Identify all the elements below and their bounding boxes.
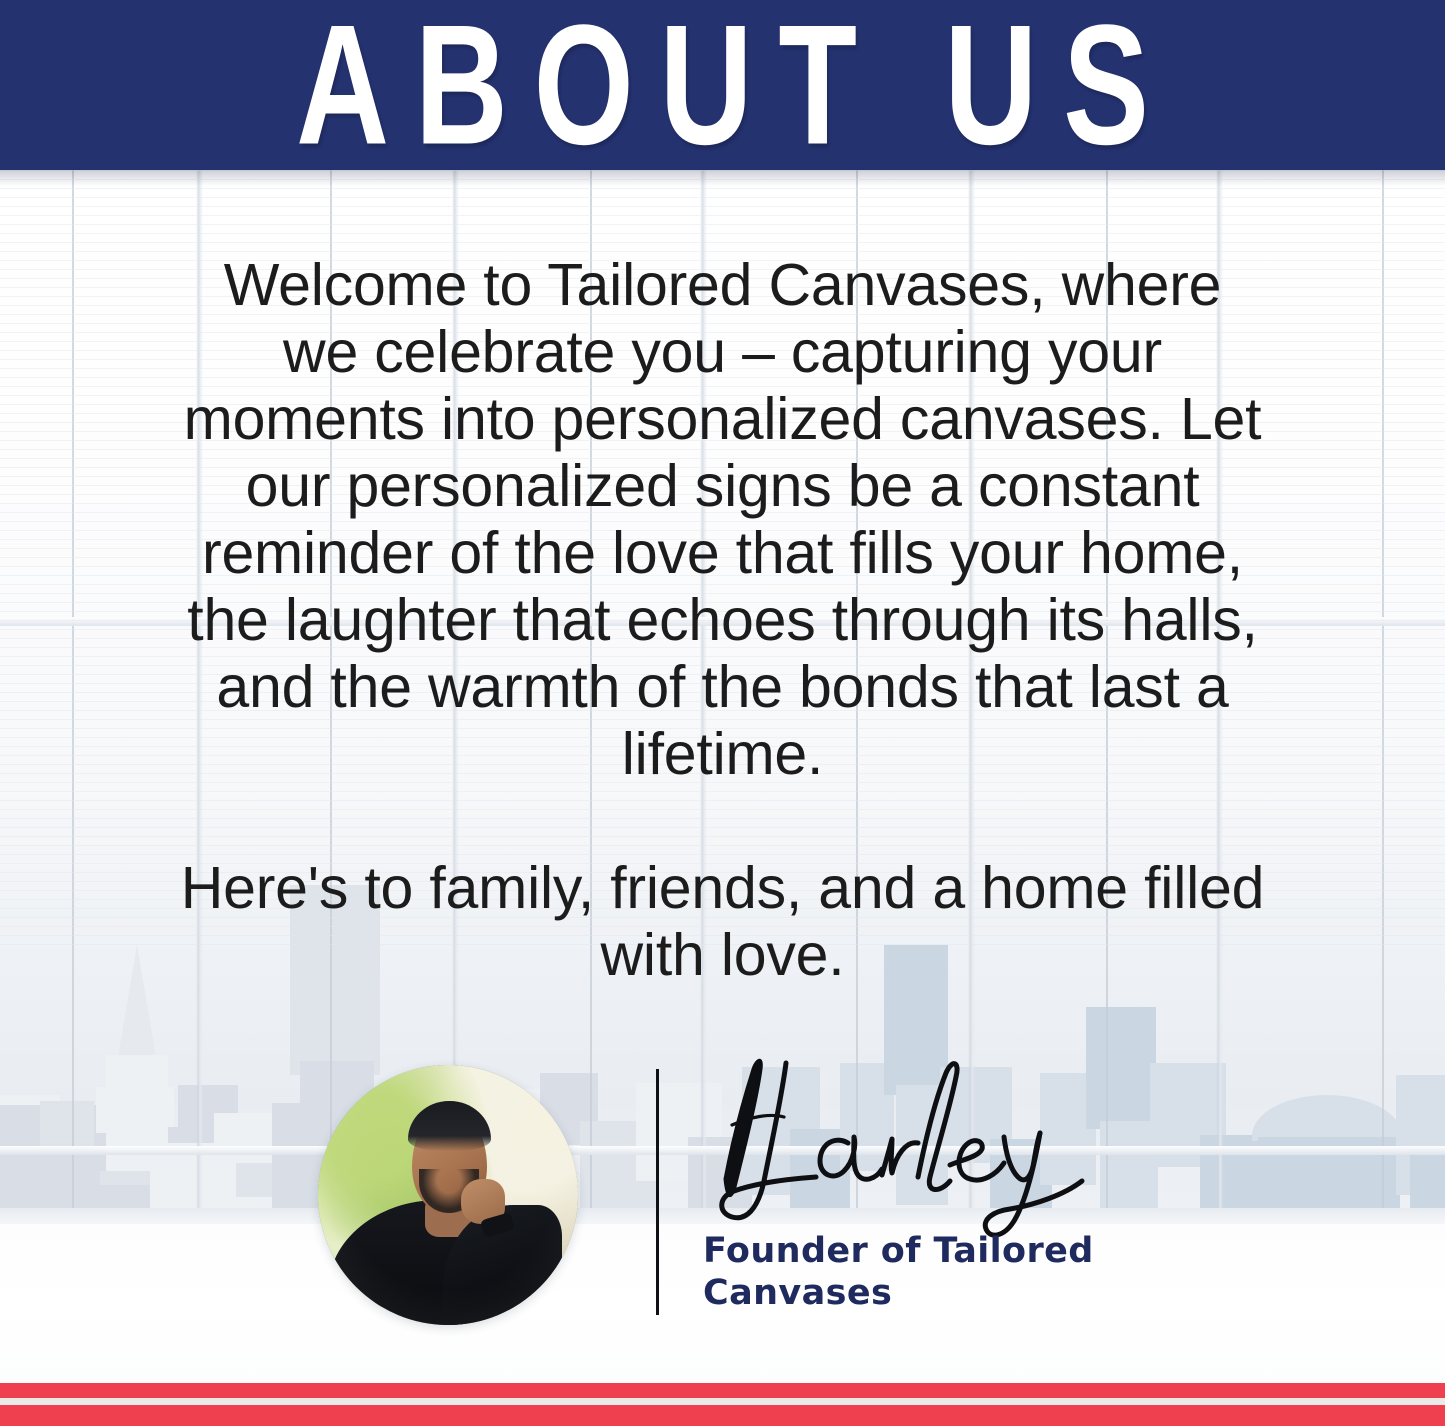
paragraph-1: Welcome to Tailored Canvases, where we c…	[180, 252, 1265, 788]
about-us-copy: Welcome to Tailored Canvases, where we c…	[180, 252, 1265, 989]
about-us-card: ABOUT US Welcome to Tailored Canvases, w…	[0, 0, 1445, 1426]
footer-stripe-upper	[0, 1383, 1445, 1398]
footer-stripe-gap	[0, 1398, 1445, 1405]
page-title: ABOUT US	[270, 0, 1174, 170]
avatar-vignette	[318, 1065, 578, 1325]
paragraph-spacer	[180, 788, 1265, 855]
vertical-divider	[656, 1069, 659, 1315]
founder-role: Founder of Tailored Canvases	[703, 1230, 1173, 1314]
role-line-1: Founder of Tailored	[703, 1230, 1173, 1272]
founder-signature-block: Founder of Tailored Canvases	[318, 1055, 1148, 1355]
avatar	[318, 1065, 578, 1325]
header-drop-shadow	[0, 170, 1445, 186]
role-line-2: Canvases	[703, 1272, 1173, 1314]
signature-harley	[678, 1051, 1118, 1233]
transamerica-pyramid-icon	[118, 945, 156, 1057]
header-banner: ABOUT US	[0, 0, 1445, 170]
paragraph-2: Here's to family, friends, and a home fi…	[180, 855, 1265, 989]
footer-stripe-lower	[0, 1405, 1445, 1426]
